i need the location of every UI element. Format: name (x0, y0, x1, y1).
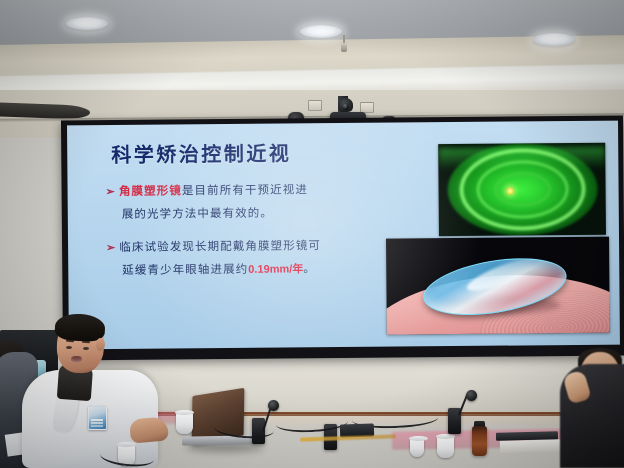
presenter-eye-left (66, 346, 72, 349)
bullet-1-line-2: 展的光学方法中最有效的。 (106, 201, 391, 225)
ceiling-light-3 (533, 33, 575, 46)
presenter-mouth (71, 356, 82, 362)
paper-cup-center (176, 412, 193, 434)
bullet-2-text-2: 延缓青少年眼轴进展约 (122, 262, 248, 277)
bullet-2-period: 。 (303, 261, 316, 275)
lecture-room-photo: 科学矫治控制近视 ➢角膜塑形镜是目前所有干预近视进 展的光学方法中最有效的。 ➢… (0, 0, 624, 468)
slide-canvas: 科学矫治控制近视 ➢角膜塑形镜是目前所有干预近视进 展的光学方法中最有效的。 ➢… (67, 121, 620, 350)
bullet-arrow-icon: ➢ (106, 185, 116, 198)
bullet-2-line-2: 延缓青少年眼轴进展约0.19mm/年。 (106, 257, 391, 282)
bullet-2-line-1: ➢临床试验发现长期配戴角膜塑形镜可 (106, 234, 391, 259)
presenter-eye-right (83, 347, 89, 350)
camera-lens-icon (342, 103, 349, 110)
bullet-2-text: 临床试验发现长期配戴角膜塑形镜可 (119, 238, 321, 254)
bullet-2-number: 0.19mm/年 (248, 263, 303, 275)
ceiling-light-2 (300, 25, 342, 38)
microphone-head-right (466, 390, 477, 401)
ortho-k-lens-on-finger-image (386, 237, 610, 335)
lens-highlight (464, 253, 539, 296)
bullet-1-text: 是目前所有干预近视进 (182, 182, 308, 197)
presenter-id-badge (88, 406, 107, 430)
ceiling-light-1 (66, 17, 108, 30)
microphone-head-left (268, 400, 279, 411)
presenter-ear (96, 338, 105, 351)
presenter-hand (129, 416, 169, 443)
bullet-1-text-2: 展的光学方法中最有效的。 (122, 206, 273, 221)
slide-bullet-2: ➢临床试验发现长期配戴角膜塑形镜可 延缓青少年眼轴进展约0.19mm/年。 (106, 234, 391, 282)
bullet-1-emphasis: 角膜塑形镜 (119, 183, 182, 198)
water-bottle (472, 426, 487, 456)
projection-screen: 科学矫治控制近视 ➢角膜塑形镜是目前所有干预近视进 展的光学方法中最有效的。 ➢… (61, 116, 624, 361)
paper-cup-right-2 (410, 438, 424, 457)
bullet-arrow-icon: ➢ (106, 241, 116, 254)
smoke-detector-icon (341, 43, 347, 52)
slide-bullet-list: ➢角膜塑形镜是目前所有干预近视进 展的光学方法中最有效的。 ➢临床试验发现长期配… (105, 178, 391, 293)
wall-outlet-left (308, 100, 322, 111)
bullet-1-line-1: ➢角膜塑形镜是目前所有干预近视进 (105, 178, 390, 203)
paper-cup-right (437, 436, 454, 458)
slide-bullet-1: ➢角膜塑形镜是目前所有干预近视进 展的光学方法中最有效的。 (105, 178, 390, 225)
slide-title: 科学矫治控制近视 (111, 137, 291, 168)
corneal-fluorescein-image (438, 143, 606, 236)
